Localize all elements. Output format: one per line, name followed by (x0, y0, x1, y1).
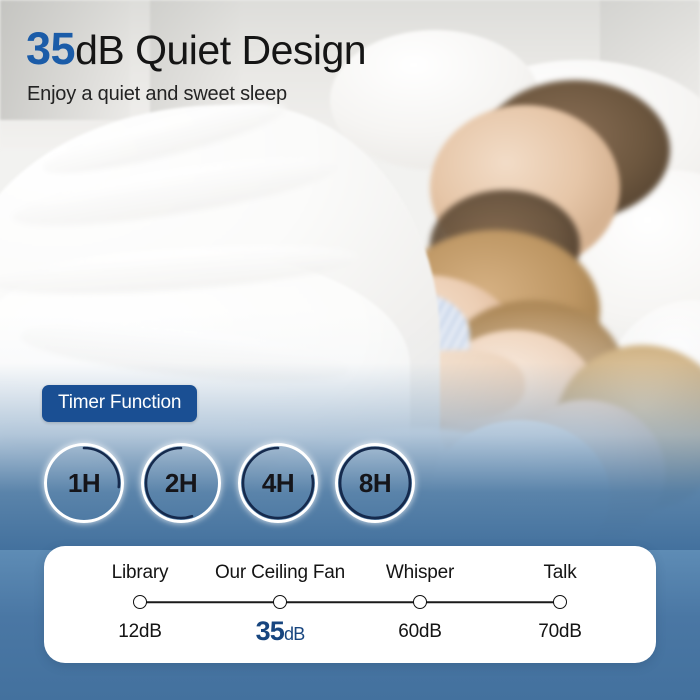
timer-option-8h[interactable]: 8H (335, 443, 415, 523)
noise-dot-our-ceiling-fan (273, 595, 287, 609)
noise-dot-whisper (413, 595, 427, 609)
noise-dot-talk (553, 595, 567, 609)
noise-value-whisper: 60dB (398, 621, 442, 643)
noise-value-talk: 70dB (538, 621, 582, 643)
noise-scale-col-talk: Talk (490, 562, 630, 584)
timer-option-2h[interactable]: 2H (141, 443, 221, 523)
noise-scale-col-library: Library (70, 562, 210, 584)
noise-value-col-whisper: 60dB (350, 615, 490, 647)
noise-scale-col-our-ceiling-fan: Our Ceiling Fan (210, 562, 350, 584)
timer-options: 1H 2H 4H 8H (44, 443, 415, 523)
page-subtitle: Enjoy a quiet and sweet sleep (27, 83, 287, 106)
page-title: 35dB Quiet Design (26, 26, 366, 71)
headline-rest: dB Quiet Design (75, 27, 366, 73)
timer-label-2h: 2H (141, 443, 221, 523)
noise-label-talk: Talk (544, 562, 577, 584)
noise-scale-col-whisper: Whisper (350, 562, 490, 584)
noise-value-our-ceiling-fan: 35dB (256, 616, 305, 647)
noise-scale-track (140, 601, 560, 603)
noise-scale: Library Our Ceiling Fan Whisper Talk (70, 562, 630, 649)
timer-label-4h: 4H (238, 443, 318, 523)
noise-value-unit: dB (284, 624, 304, 644)
timer-option-4h[interactable]: 4H (238, 443, 318, 523)
noise-value-library: 12dB (118, 621, 162, 643)
timer-label-1h: 1H (44, 443, 124, 523)
noise-label-whisper: Whisper (386, 562, 454, 584)
noise-label-our-ceiling-fan: Our Ceiling Fan (215, 562, 345, 584)
noise-scale-track-row (70, 589, 630, 615)
noise-scale-values-row: 12dB 35dB 60dB 70dB (70, 615, 630, 647)
timer-label-8h: 8H (335, 443, 415, 523)
noise-scale-names-row: Library Our Ceiling Fan Whisper Talk (70, 562, 630, 584)
headline-decibel-number: 35 (26, 23, 75, 74)
timer-option-1h[interactable]: 1H (44, 443, 124, 523)
noise-value-number: 35 (256, 616, 284, 646)
noise-dot-library (133, 595, 147, 609)
noise-label-library: Library (112, 562, 169, 584)
timer-function-badge: Timer Function (42, 385, 197, 422)
promo-image: 35dB Quiet Design Enjoy a quiet and swee… (0, 0, 700, 700)
noise-value-col-talk: 70dB (490, 615, 630, 647)
noise-comparison-card: Library Our Ceiling Fan Whisper Talk (44, 546, 656, 663)
noise-value-col-library: 12dB (70, 615, 210, 647)
noise-value-col-our-ceiling-fan: 35dB (210, 615, 350, 647)
